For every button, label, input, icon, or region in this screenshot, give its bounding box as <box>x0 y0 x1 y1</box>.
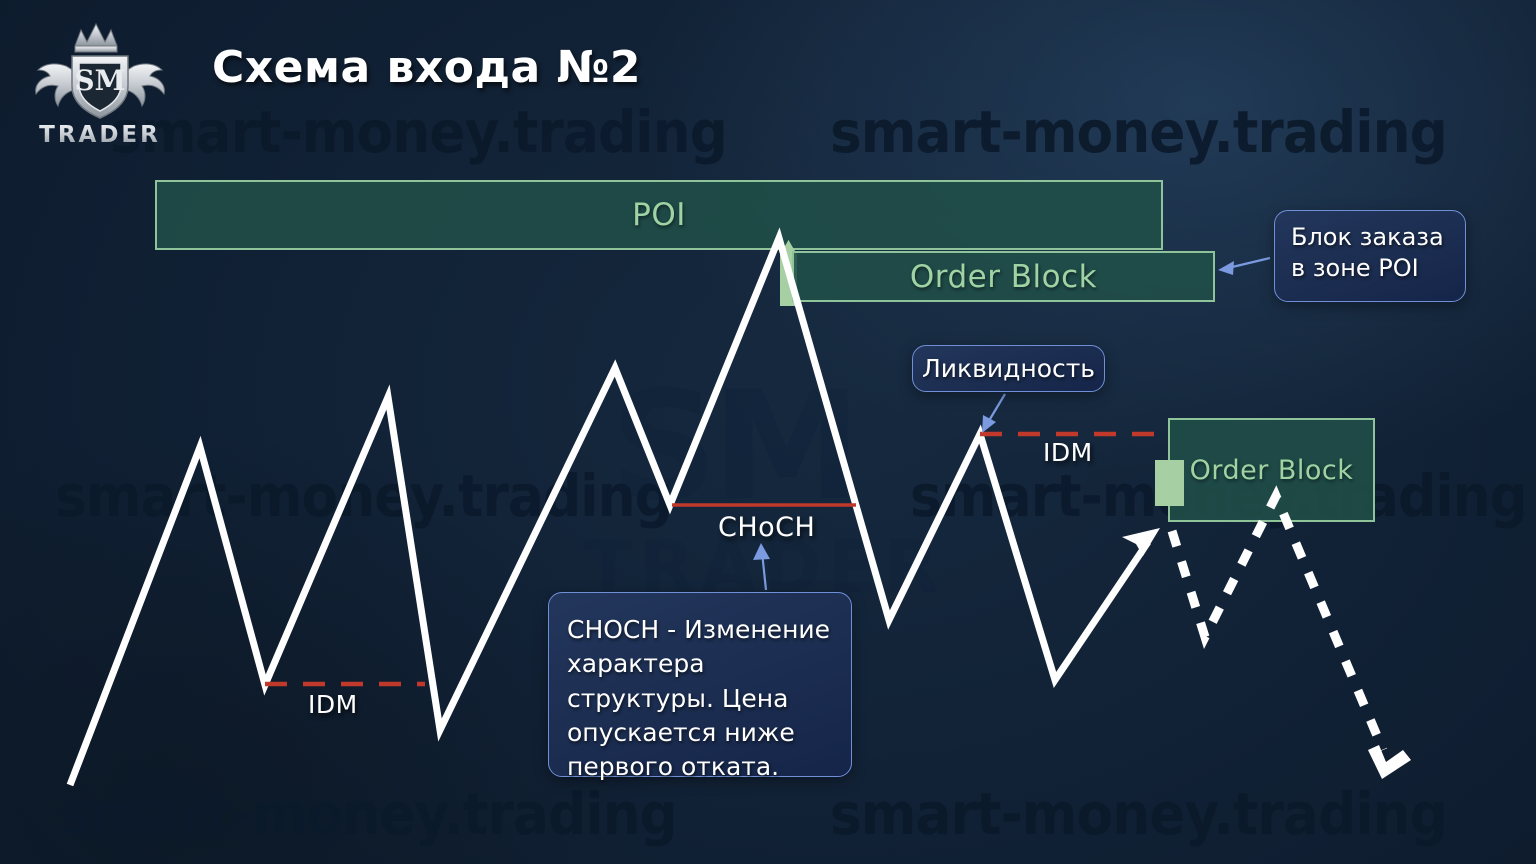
callout-liquidity: Ликвидность <box>912 345 1105 392</box>
callout-liq-arrowhead <box>982 415 996 433</box>
callout-choch: CHOCH - Изменение характера структуры. Ц… <box>548 592 852 777</box>
idm-label-right: IDM <box>1043 438 1093 467</box>
callout-choch-arrowhead <box>753 543 770 560</box>
callout-ob-arrowhead <box>1218 261 1234 275</box>
callout-order-block-line1: Блок заказа <box>1291 222 1449 253</box>
projected-path-dotted <box>1172 496 1383 750</box>
idm-label-left: IDM <box>308 690 358 719</box>
callout-liquidity-label: Ликвидность <box>922 354 1095 383</box>
slide-canvas: smart-money.trading smart-money.trading … <box>0 0 1536 864</box>
choch-label: CHoCH <box>718 512 815 543</box>
callout-choch-text: CHOCH - Изменение характера структуры. Ц… <box>567 615 830 781</box>
callout-order-block-line2: в зоне POI <box>1291 253 1449 284</box>
callout-order-block: Блок заказа в зоне POI <box>1274 210 1466 302</box>
price-line-arrowhead <box>1122 528 1160 556</box>
callout-ob-connector <box>1228 258 1270 268</box>
projected-path-arrowhead <box>1368 745 1411 779</box>
